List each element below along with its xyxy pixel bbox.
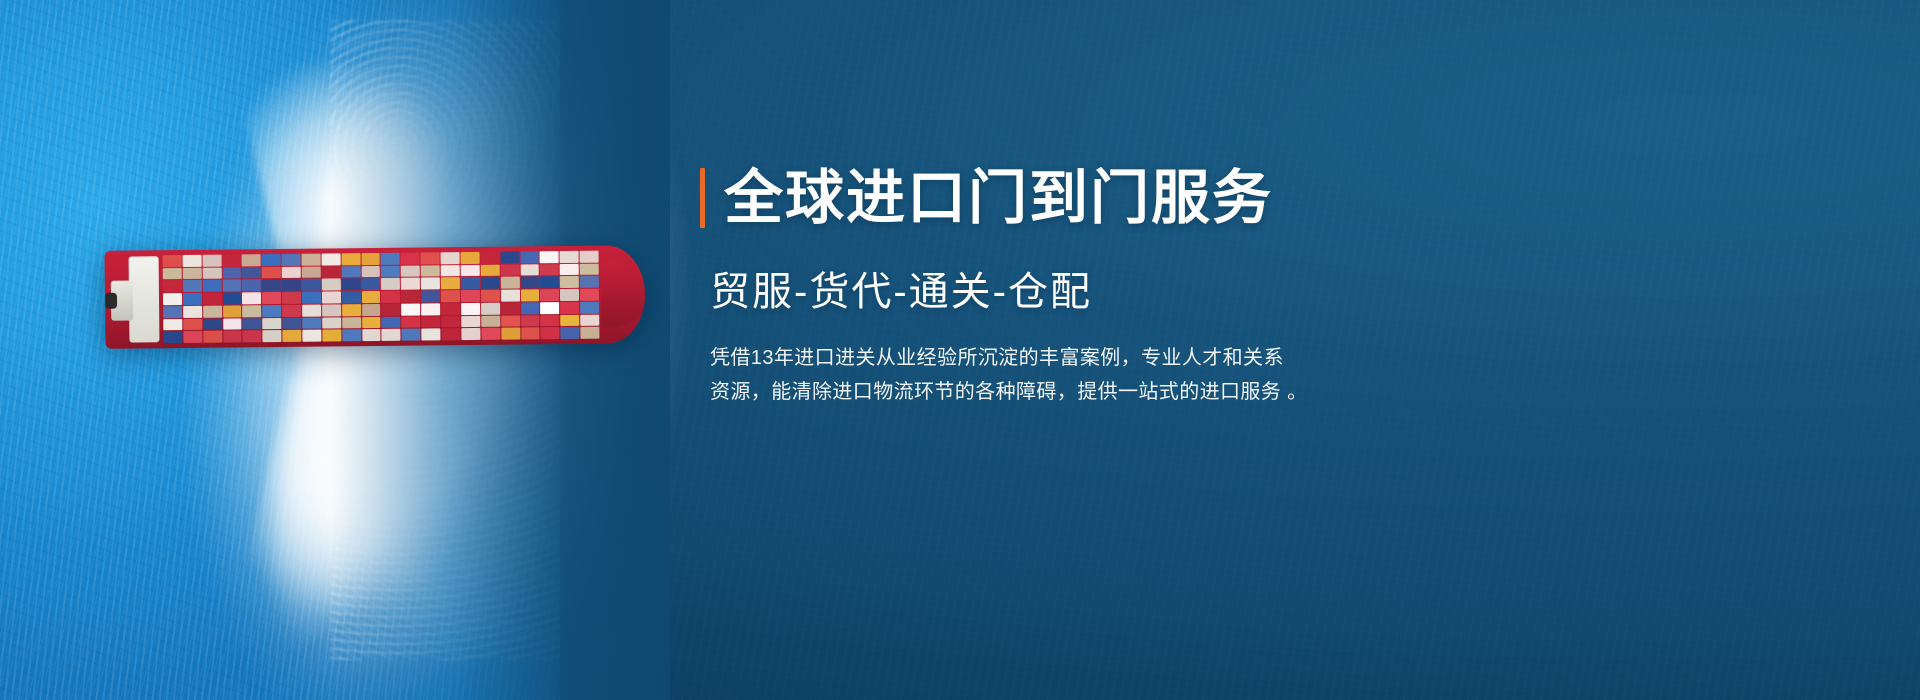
container-ship-icon xyxy=(105,245,646,349)
hero-banner: 全球进口门到门服务 贸服-货代-通关-仓配 凭借13年进口进关从业经验所沉淀的丰… xyxy=(0,0,1920,700)
headline-row: 全球进口门到门服务 xyxy=(700,168,1273,228)
ship-bow xyxy=(601,261,646,327)
ship-hull xyxy=(105,245,646,349)
ship-deck xyxy=(129,256,160,342)
banner-headline: 全球进口门到门服务 xyxy=(724,169,1273,228)
banner-description: 凭借13年进口进关从业经验所沉淀的丰富案例，专业人才和关系 资源，能清除进口物流… xyxy=(710,341,1410,410)
accent-bar-icon xyxy=(700,168,705,228)
ocean-gradient-fade xyxy=(330,0,670,700)
ship-stern-mast xyxy=(105,293,117,309)
description-line-1: 凭借13年进口进关从业经验所沉淀的丰富案例，专业人才和关系 xyxy=(710,341,1410,375)
banner-subheading: 贸服-货代-通关-仓配 xyxy=(710,272,1092,312)
banner-content: 全球进口门到门服务 贸服-货代-通关-仓配 凭借13年进口进关从业经验所沉淀的丰… xyxy=(700,0,1880,700)
description-line-2: 资源，能清除进口物流环节的各种障碍，提供一站式的进口服务 。 xyxy=(710,375,1410,409)
ship-containers xyxy=(163,251,600,344)
